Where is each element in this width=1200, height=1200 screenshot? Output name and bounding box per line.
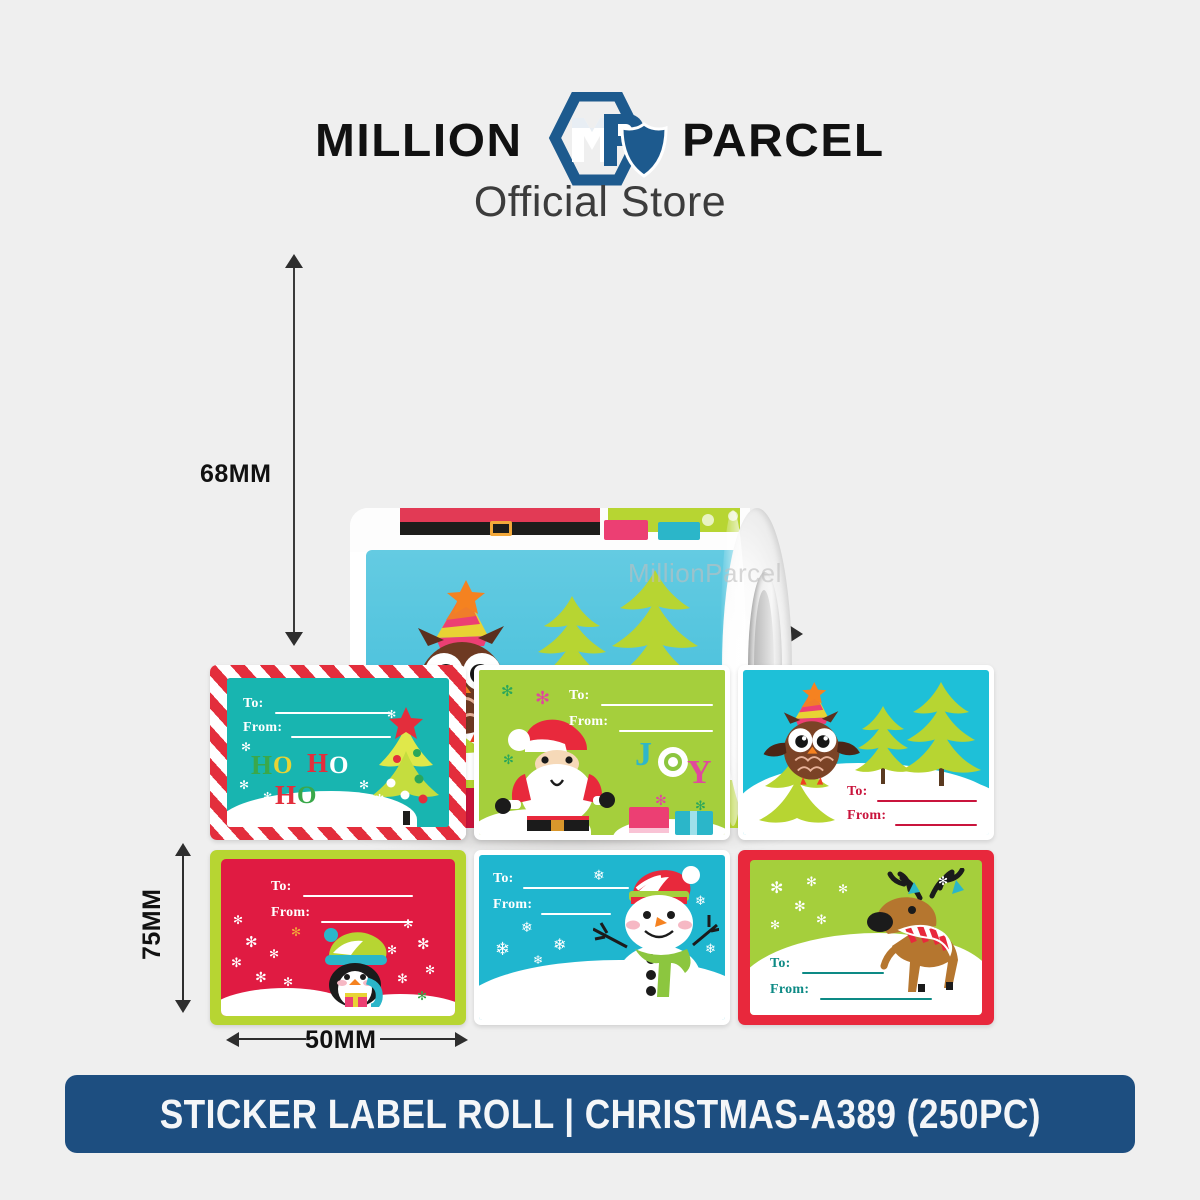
sticker4-from: From:	[271, 905, 310, 921]
joy-o-icon	[657, 746, 689, 778]
sticker3-to-line	[877, 800, 977, 802]
sticker-height-dimension-label: 75MM	[138, 889, 167, 960]
sticker-snowman[interactable]: ❄ ❄ ❄ ❄ ❄ ❄ ❄ ❄ To: From:	[474, 850, 730, 1025]
sticker5-to-line	[523, 887, 629, 889]
product-title-banner: STICKER LABEL ROLL | CHRISTMAS-A389 (250…	[65, 1075, 1135, 1153]
height-dimension-label: 68MM	[200, 460, 271, 489]
sticker2-from-line	[619, 730, 713, 732]
snowman-icon	[593, 861, 719, 1011]
christmas-tree-icon	[367, 707, 445, 825]
sticker-design-grid: H O H O H O ✻ ✻ ✻ ✻ ✻ ✻ To: From:	[210, 665, 995, 1025]
sticker3-from: From:	[847, 808, 886, 824]
tree-large-icon	[901, 680, 981, 786]
sticker-owl[interactable]: To: From:	[738, 665, 994, 840]
sticker-penguin[interactable]: ✻ ✻ ✻ ✻ ✻ ✻ ✻ ✻ ✻ ✻ ✻ ✻ ✻ To: From:	[210, 850, 466, 1025]
sticker6-to-line	[802, 972, 884, 974]
header: MILLION PARCEL Offi	[0, 0, 1200, 250]
hero-product-photo: 68MM 79MM	[0, 250, 1200, 670]
sticker5-from-line	[541, 913, 611, 915]
sticker5-from: From:	[493, 897, 532, 913]
sticker5-to: To:	[493, 871, 514, 887]
brand-lockup: MILLION PARCEL	[0, 92, 1200, 188]
sticker6-to: To:	[770, 956, 791, 972]
sticker3-to: To:	[847, 784, 868, 800]
sticker4-to-line	[303, 895, 413, 897]
official-store-subtitle: Official Store	[0, 178, 1200, 227]
product-listing-image: MILLION PARCEL Offi	[0, 0, 1200, 1200]
sticker1-from-line	[291, 736, 391, 738]
brand-name-right: PARCEL	[683, 113, 886, 167]
sticker4-from-line	[321, 921, 413, 923]
brand-name-left: MILLION	[315, 113, 523, 167]
sticker4-to: To:	[271, 879, 292, 895]
sticker-reindeer[interactable]: ✻ ✻ ✻ ✻ ✻ ✻ ✻ To: From:	[738, 850, 994, 1025]
sticker-width-dimension-label: 50MM	[305, 1026, 376, 1055]
penguin-icon	[309, 923, 395, 1007]
sticker1-from: From:	[243, 720, 282, 736]
sticker-santa-joy[interactable]: J Y ✻ ✻ ✻ ✻ ✻ To:	[474, 665, 730, 840]
sticker1-to-line	[275, 712, 391, 714]
sticker6-from: From:	[770, 982, 809, 998]
sticker3-from-line	[895, 824, 977, 826]
roll-previous-label-strip	[372, 508, 740, 548]
sticker6-from-line	[820, 998, 932, 1000]
sticker2-to-line	[601, 704, 713, 706]
product-title-text: STICKER LABEL ROLL | CHRISTMAS-A389 (250…	[159, 1091, 1040, 1138]
sticker2-from: From:	[569, 714, 608, 730]
sticker-ho-ho-ho[interactable]: H O H O H O ✻ ✻ ✻ ✻ ✻ ✻ To: From:	[210, 665, 466, 840]
sticker1-to: To:	[243, 696, 264, 712]
owl-icon	[761, 682, 865, 796]
mp-hexagon-shield-logo-icon	[532, 92, 672, 188]
sticker2-to: To:	[569, 688, 590, 704]
reindeer-icon	[860, 868, 980, 998]
